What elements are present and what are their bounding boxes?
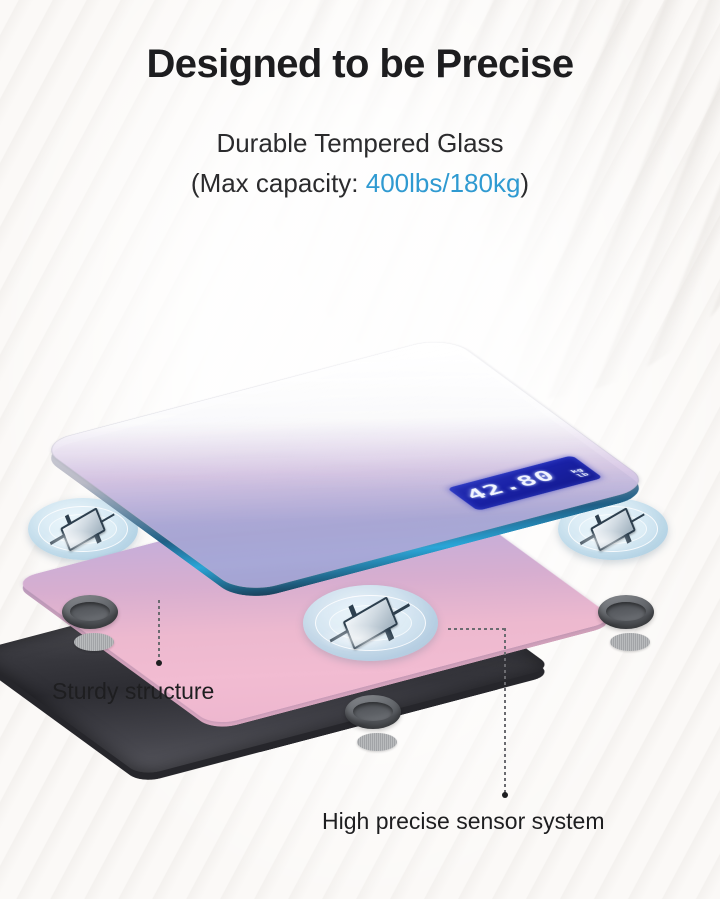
foot-cup-inner: [70, 602, 110, 621]
sensor-highlight: [571, 530, 635, 552]
callout-sensor-system: High precise sensor system: [322, 808, 605, 835]
foot-grip-pad: [74, 633, 114, 651]
max-capacity-suffix: ): [520, 168, 529, 198]
leader-line-sensor-horizontal: [448, 628, 506, 630]
sensor-highlight: [319, 625, 397, 652]
rubber-foot: [62, 595, 118, 643]
foot-grip-pad: [357, 733, 397, 751]
foot-cup: [345, 695, 401, 729]
exploded-product-view: 42.80 kg lb: [0, 255, 720, 815]
max-capacity-prefix: (Max capacity:: [191, 168, 366, 198]
rubber-foot: [345, 695, 401, 743]
leader-line-sturdy-structure: [158, 600, 160, 662]
subtitle-line-2: (Max capacity: 400lbs/180kg): [0, 168, 720, 199]
rubber-foot: [598, 595, 654, 643]
leader-line-sensor-vertical: [504, 628, 506, 796]
foot-cup-inner: [353, 702, 393, 721]
foot-cup-inner: [606, 602, 646, 621]
foot-cup: [598, 595, 654, 629]
leader-dot-sensor-system: [502, 792, 508, 798]
callout-sturdy-structure: Sturdy structure: [52, 678, 214, 705]
leader-dot-sturdy-structure: [156, 660, 162, 666]
product-feature-graphic: Designed to be Precise Durable Tempered …: [0, 0, 720, 899]
foot-cup: [62, 595, 118, 629]
load-cell-sensor: [303, 585, 438, 661]
foot-grip-pad: [610, 633, 650, 651]
page-title: Designed to be Precise: [0, 42, 720, 87]
max-capacity-value: 400lbs/180kg: [366, 168, 521, 198]
sensor-highlight: [41, 530, 105, 552]
subtitle-line-1: Durable Tempered Glass: [0, 128, 720, 159]
